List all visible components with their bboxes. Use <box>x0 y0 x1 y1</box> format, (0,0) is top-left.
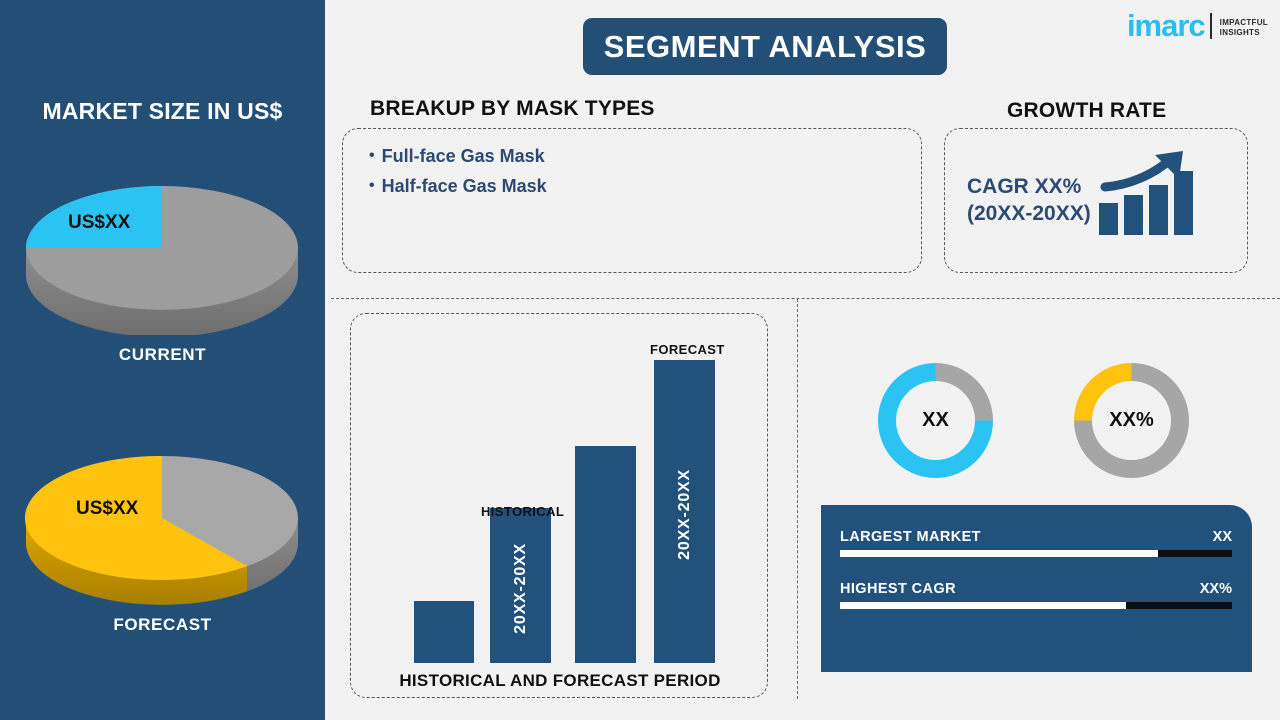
share-donut-label: XX% <box>1109 409 1153 432</box>
bar-historical-1 <box>414 601 474 663</box>
logo-tagline-line1: IMPACTFUL <box>1220 18 1268 28</box>
key-stats-panel: LARGEST MARKET XX HIGHEST CAGR XX% <box>821 505 1252 672</box>
cagr-line1: CAGR XX% <box>967 174 1091 201</box>
bar-forecast-range-label: 20XX-20XX <box>676 463 694 560</box>
volume-donut-label: XX <box>922 409 949 432</box>
bar-forecast-1 <box>575 446 636 663</box>
list-item-label: Full-face Gas Mask <box>382 141 545 171</box>
current-pie-section: US$XX CURRENT <box>0 160 325 365</box>
bar-forecast-2: 20XX-20XX <box>654 360 715 663</box>
stat-largest-market-track <box>840 550 1232 557</box>
segment-analysis-banner: SEGMENT ANALYSIS <box>583 18 947 75</box>
growth-arrow-chart-icon <box>1097 151 1205 251</box>
logo-divider-icon <box>1210 13 1212 39</box>
historical-forecast-bar-chart: 20XX-20XX HISTORICAL 20XX-20XX FORECAST … <box>351 314 769 699</box>
list-item: • Half-face Gas Mask <box>369 171 921 201</box>
bar-historical-2: 20XX-20XX <box>490 508 551 663</box>
logo-tagline: IMPACTFUL INSIGHTS <box>1220 18 1268 41</box>
share-donut-chart: XX% <box>1074 363 1189 478</box>
breakup-list: • Full-face Gas Mask • Half-face Gas Mas… <box>343 129 921 201</box>
historical-tag: HISTORICAL <box>481 504 564 519</box>
cagr-text: CAGR XX% (20XX-20XX) <box>967 174 1091 228</box>
stat-largest-market-value: XX <box>1213 529 1232 545</box>
header: SEGMENT ANALYSIS imarc IMPACTFUL INSIGHT… <box>325 0 1280 92</box>
current-pie-chart <box>0 160 325 335</box>
historical-forecast-panel: 20XX-20XX HISTORICAL 20XX-20XX FORECAST … <box>350 313 768 698</box>
share-donut-hole: XX% <box>1092 381 1171 460</box>
bullet-icon: • <box>369 148 375 164</box>
stat-highest-cagr-track <box>840 602 1232 609</box>
market-size-sidebar: MARKET SIZE IN US$ US$XX <box>0 0 325 720</box>
bar-historical-range-label: 20XX-20XX <box>512 537 530 634</box>
stat-highest-cagr-line: HIGHEST CAGR XX% <box>840 581 1232 597</box>
bar-chart-axis-label: HISTORICAL AND FORECAST PERIOD <box>351 671 769 691</box>
breakup-heading: BREAKUP BY MASK TYPES <box>370 97 655 121</box>
forecast-pie-chart <box>0 430 325 605</box>
logo-wordmark: imarc <box>1127 10 1205 41</box>
forecast-pie-section: US$XX FORECAST <box>0 430 325 635</box>
forecast-tag: FORECAST <box>650 342 725 357</box>
growth-rate-content: CAGR XX% (20XX-20XX) <box>945 129 1247 272</box>
forecast-pie-caption: FORECAST <box>0 615 325 635</box>
page-title: SEGMENT ANALYSIS <box>604 29 927 65</box>
logo-tagline-line2: INSIGHTS <box>1220 28 1268 38</box>
imarc-logo: imarc IMPACTFUL INSIGHTS <box>1127 10 1268 41</box>
infographic-root: MARKET SIZE IN US$ US$XX <box>0 0 1280 720</box>
stat-highest-cagr: HIGHEST CAGR XX% <box>840 581 1232 609</box>
stat-highest-cagr-fill <box>840 602 1126 609</box>
growth-rate-heading: GROWTH RATE <box>1007 99 1166 123</box>
sidebar-title: MARKET SIZE IN US$ <box>0 98 325 125</box>
current-pie-stage: US$XX <box>0 160 325 335</box>
stat-largest-market: LARGEST MARKET XX <box>840 529 1232 557</box>
stat-largest-market-fill <box>840 550 1158 557</box>
growth-rate-panel: CAGR XX% (20XX-20XX) <box>944 128 1248 273</box>
volume-donut-chart: XX <box>878 363 993 478</box>
vertical-divider <box>797 299 798 699</box>
cagr-line2: (20XX-20XX) <box>967 201 1091 228</box>
stat-highest-cagr-value: XX% <box>1200 581 1232 597</box>
volume-donut-hole: XX <box>896 381 975 460</box>
stat-highest-cagr-label: HIGHEST CAGR <box>840 581 956 597</box>
list-item-label: Half-face Gas Mask <box>382 171 547 201</box>
bullet-icon: • <box>369 178 375 194</box>
breakup-panel: • Full-face Gas Mask • Half-face Gas Mas… <box>342 128 922 273</box>
stat-largest-market-label: LARGEST MARKET <box>840 529 981 545</box>
list-item: • Full-face Gas Mask <box>369 141 921 171</box>
forecast-pie-stage: US$XX <box>0 430 325 605</box>
horizontal-divider <box>331 298 1280 299</box>
stat-largest-market-line: LARGEST MARKET XX <box>840 529 1232 545</box>
current-pie-caption: CURRENT <box>0 345 325 365</box>
